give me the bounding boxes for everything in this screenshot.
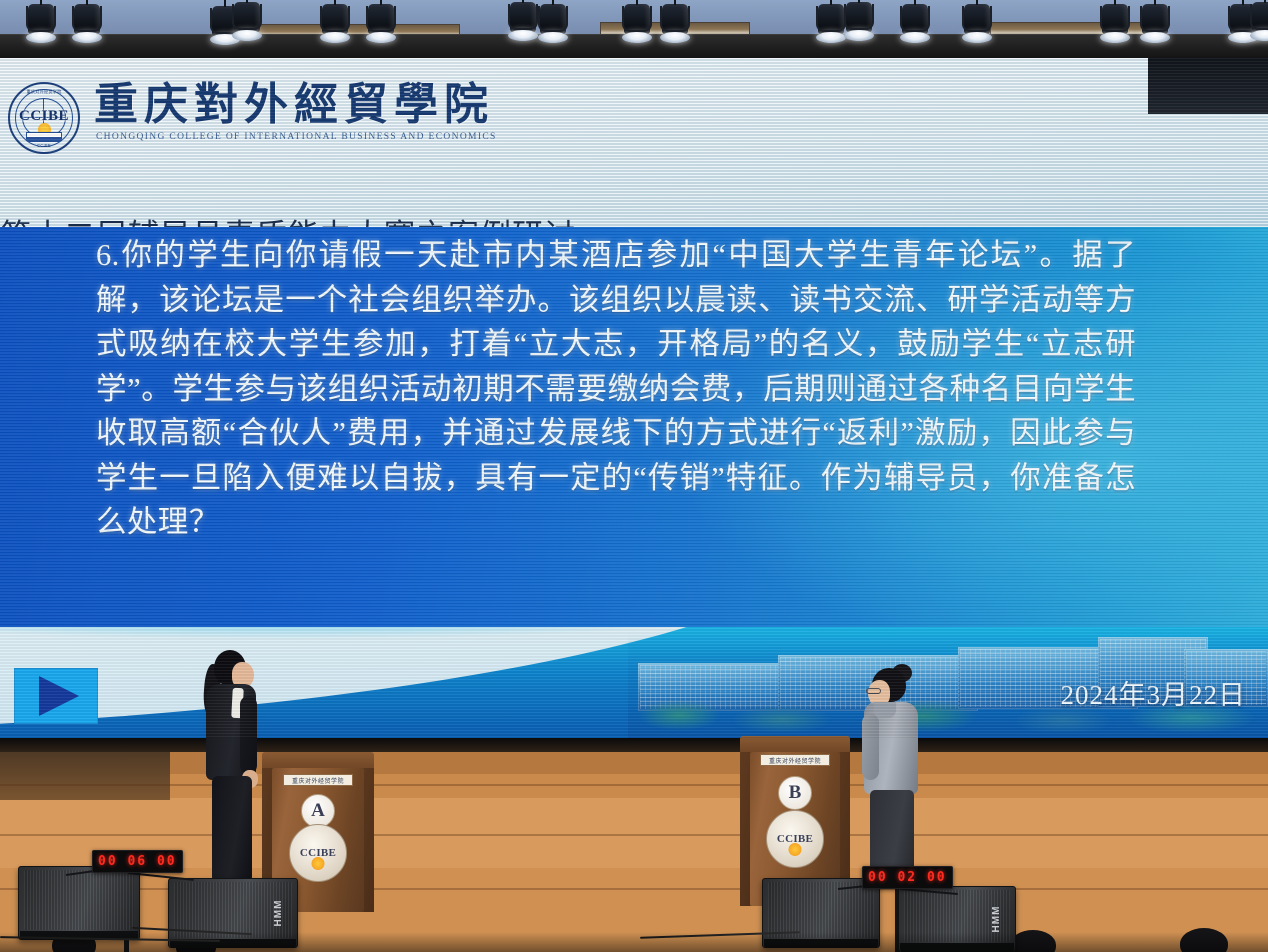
countdown-timer-left: 00 06 00 bbox=[92, 850, 183, 873]
contestant-a bbox=[196, 650, 266, 880]
stage-monitor-left-1 bbox=[18, 866, 140, 940]
stage-left-wall bbox=[0, 748, 170, 800]
glasses-icon bbox=[866, 688, 881, 694]
event-date: 2024年3月22日 bbox=[1061, 673, 1247, 712]
crest-book-icon bbox=[26, 132, 62, 142]
podium-a-plaque: 重庆对外经贸学院 bbox=[283, 774, 353, 786]
header-dark-corner bbox=[1148, 58, 1268, 114]
play-icon[interactable] bbox=[14, 668, 98, 724]
stage-scene: 重庆对外经贸学院 CCIBE CCIBE 重庆對外經貿學院 CHONGQING … bbox=[0, 0, 1268, 952]
stage-front-rail bbox=[0, 738, 1268, 752]
contestant-a-trousers bbox=[212, 776, 252, 880]
ccibe-crest-icon: 重庆对外经贸学院 CCIBE CCIBE bbox=[8, 82, 80, 154]
led-screen: 重庆对外经贸学院 CCIBE CCIBE 重庆對外經貿學院 CHONGQING … bbox=[0, 58, 1268, 738]
slide-header: 重庆对外经贸学院 CCIBE CCIBE 重庆對外經貿學院 CHONGQING … bbox=[0, 58, 1268, 227]
contestant-b bbox=[852, 668, 926, 880]
stage-lighting-rig bbox=[0, 0, 1268, 58]
countdown-timer-right: 00 02 00 bbox=[862, 866, 953, 889]
podium-a-letter: A bbox=[301, 794, 335, 828]
institution-name-en: CHONGQING COLLEGE OF INTERNATIONAL BUSIN… bbox=[96, 132, 497, 142]
crest-arc-top-text: 重庆对外经贸学院 bbox=[8, 89, 80, 95]
speaker-brand-label: HMM bbox=[273, 900, 284, 927]
institution-name-cn: 重庆對外經貿學院 bbox=[94, 82, 497, 129]
podium-b-letter: B bbox=[778, 776, 812, 810]
question-text: 6.你的学生向你请假一天赴市内某酒店参加“中国大学生青年论坛”。据了解，该论坛是… bbox=[96, 233, 1136, 545]
slide-footer-banner: 2024年3月22日 bbox=[0, 627, 1268, 738]
emblem-sun-icon bbox=[789, 843, 802, 856]
podium-b-plaque: 重庆对外经贸学院 bbox=[760, 754, 830, 766]
institution-branding: 重庆对外经贸学院 CCIBE CCIBE 重庆對外經貿學院 CHONGQING … bbox=[8, 82, 497, 154]
page-title: 第十二届辅导员素质能力大赛之案例研讨 bbox=[0, 210, 576, 227]
podium-a-emblem: CCIBE bbox=[289, 824, 347, 882]
podium-b-emblem: CCIBE bbox=[766, 810, 824, 868]
slide-question-area: 6.你的学生向你请假一天赴市内某酒店参加“中国大学生青年论坛”。据了解，该论坛是… bbox=[0, 227, 1268, 627]
crest-arc-bottom-text: CCIBE bbox=[8, 143, 80, 148]
speaker-brand-label: HMM bbox=[991, 906, 1002, 933]
emblem-sun-icon bbox=[312, 857, 325, 870]
